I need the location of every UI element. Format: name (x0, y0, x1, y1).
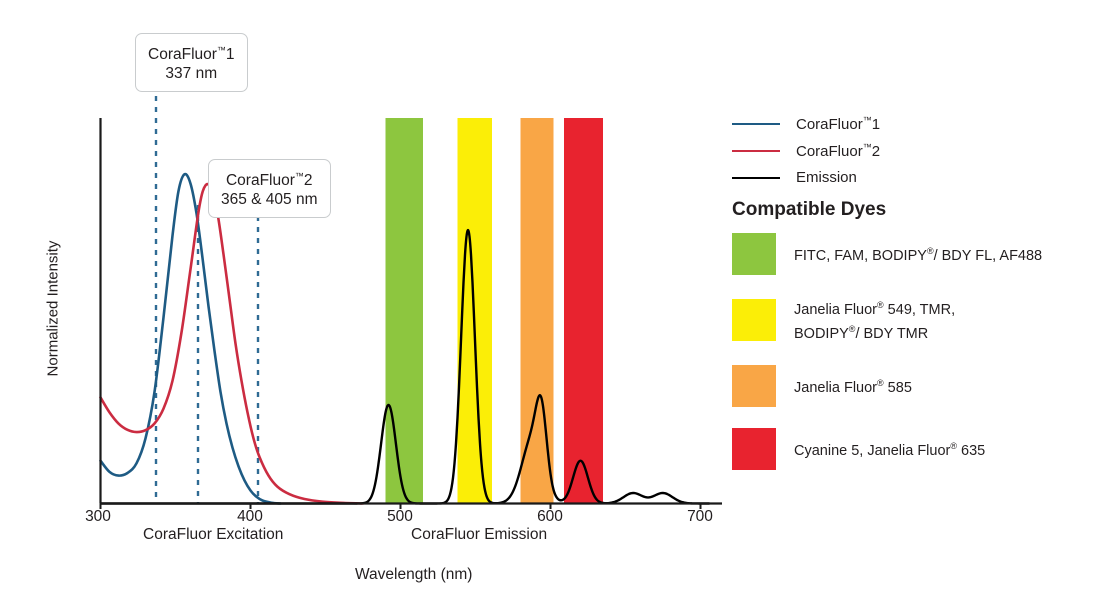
compatible-dyes-list: FITC, FAM, BODIPY®/ BDY FL, AF488Janelia… (732, 233, 1104, 491)
annotation-corafluor1-line2: 337 nm (148, 64, 235, 83)
legend-item-emission: Emission (732, 164, 1102, 191)
series-legend: CoraFluor™1CoraFluor™2Emission (732, 110, 1102, 191)
annotation-corafluor2-line1: CoraFluor™2 (221, 167, 318, 190)
dye-color-swatch (732, 299, 776, 341)
orange-band (521, 118, 554, 504)
dye-item-label: Janelia Fluor® 585 (794, 374, 912, 398)
x-tick-label-600: 600 (537, 508, 563, 526)
dye-color-swatch (732, 365, 776, 407)
x-axis-sublabel-emission: CoraFluor Emission (411, 526, 547, 544)
dye-item-label: FITC, FAM, BODIPY®/ BDY FL, AF488 (794, 242, 1042, 266)
trademark-symbol: ™ (863, 115, 872, 125)
legend-item-label: CoraFluor™1 (796, 115, 880, 133)
dye-color-swatch (732, 428, 776, 470)
legend-line-swatch (732, 123, 780, 125)
dye-item-label: Janelia Fluor® 549, TMR,BODIPY®/ BDY TMR (794, 296, 955, 344)
dye-item-2: Janelia Fluor® 585 (732, 365, 1104, 407)
legend-item-label: Emission (796, 169, 857, 186)
annotation-corafluor2-line2: 365 & 405 nm (221, 190, 318, 209)
dye-item-label: Cyanine 5, Janelia Fluor® 635 (794, 437, 985, 461)
annotation-corafluor1: CoraFluor™1 337 nm (135, 33, 248, 92)
registered-symbol: ® (927, 246, 934, 256)
dye-item-1: Janelia Fluor® 549, TMR,BODIPY®/ BDY TMR (732, 296, 1104, 344)
red-band (564, 118, 603, 504)
trademark-symbol: ™ (217, 45, 226, 55)
x-tick-label-500: 500 (387, 508, 413, 526)
registered-symbol: ® (877, 378, 884, 388)
dye-label-line1: Cyanine 5, Janelia Fluor® 635 (794, 437, 985, 461)
compatible-dyes-heading: Compatible Dyes (732, 199, 886, 221)
dye-label-line1: FITC, FAM, BODIPY®/ BDY FL, AF488 (794, 242, 1042, 266)
emission-band-group (386, 118, 604, 504)
annotation-corafluor1-line1: CoraFluor™1 (148, 41, 235, 64)
dye-item-3: Cyanine 5, Janelia Fluor® 635 (732, 428, 1104, 470)
dye-label-line2: BODIPY®/ BDY TMR (794, 320, 955, 344)
annotation-corafluor2: CoraFluor™2 365 & 405 nm (208, 159, 331, 218)
dye-label-line1: Janelia Fluor® 585 (794, 374, 912, 398)
legend-line-swatch (732, 177, 780, 179)
legend-item-label: CoraFluor™2 (796, 142, 880, 160)
green-band (386, 118, 424, 504)
dye-color-swatch (732, 233, 776, 275)
y-axis-label: Normalized Intensity (45, 229, 62, 389)
x-tick-label-700: 700 (687, 508, 713, 526)
x-tick-label-400: 400 (237, 508, 263, 526)
dye-item-0: FITC, FAM, BODIPY®/ BDY FL, AF488 (732, 233, 1104, 275)
dye-label-line1: Janelia Fluor® 549, TMR, (794, 296, 955, 320)
x-tick-label-300: 300 (85, 508, 111, 526)
chart-figure: CoraFluor™1 337 nm CoraFluor™2 365 & 405… (0, 0, 1110, 612)
curve-corafluor1 (101, 174, 281, 503)
registered-symbol: ® (877, 300, 884, 310)
x-axis-sublabel-excitation: CoraFluor Excitation (143, 526, 283, 544)
legend-line-swatch (732, 150, 780, 152)
legend-item-corafluor1: CoraFluor™1 (732, 110, 1102, 137)
legend-item-corafluor2: CoraFluor™2 (732, 137, 1102, 164)
x-axis-title: Wavelength (nm) (355, 566, 472, 584)
trademark-symbol: ™ (295, 171, 304, 181)
trademark-symbol: ™ (863, 142, 872, 152)
